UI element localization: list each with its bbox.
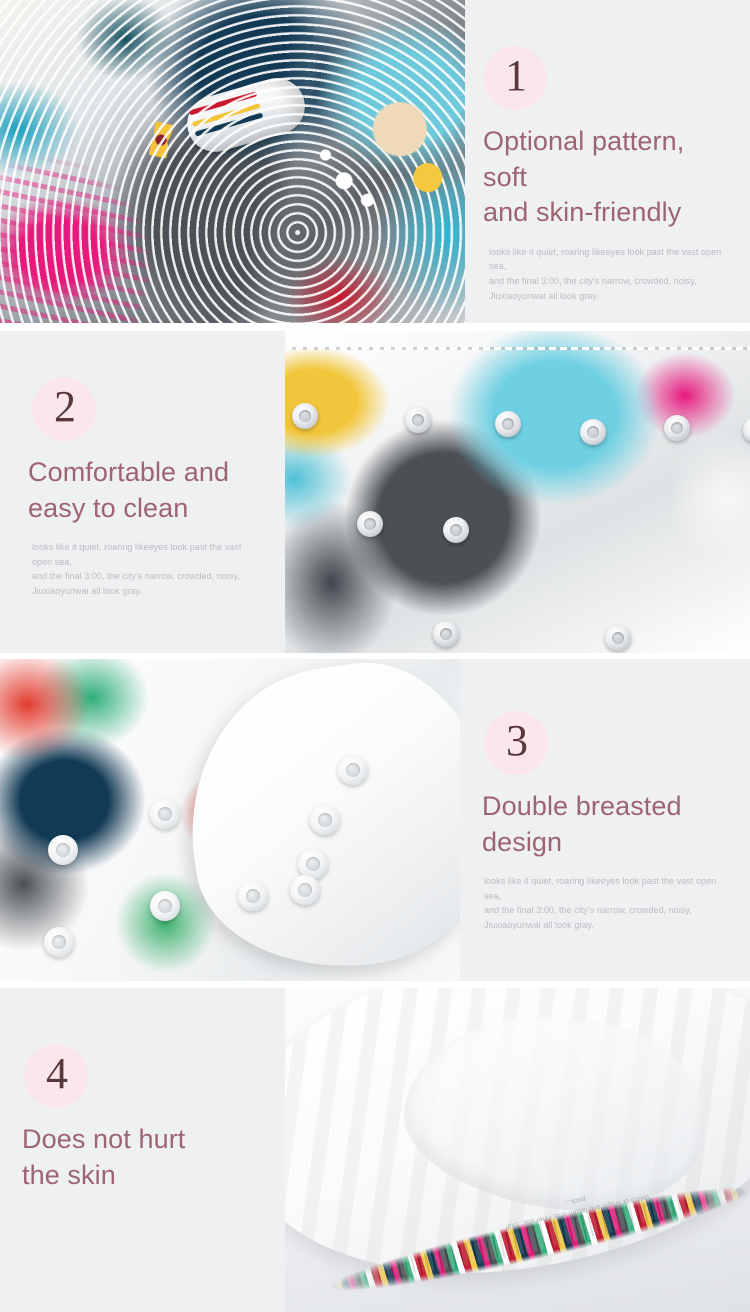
product-photo-3 <box>0 659 460 981</box>
snap-button <box>580 419 606 445</box>
feature-number-2: 2 <box>54 385 76 429</box>
feature-panel-4: Velcro or snaps and fasten onto inner us… <box>0 988 750 1312</box>
snap-button <box>290 875 320 905</box>
feature-text-1: 1 Optional pattern, soft and skin-friend… <box>465 0 750 323</box>
feature-text-3: 3 Double breasted design looks like it q… <box>460 659 750 981</box>
feature-text-4: 4 Does not hurt the skin <box>0 988 285 1312</box>
snap-button <box>605 625 631 651</box>
snap-button <box>357 511 383 537</box>
snap-button <box>664 415 690 441</box>
feature-body-2: looks like it quiet, roaring likeeyes lo… <box>28 540 261 598</box>
feature-badge-4: 4 <box>24 1044 88 1108</box>
feature-number-1: 1 <box>505 54 527 98</box>
photo1-motif-propeller <box>141 120 181 160</box>
feature-title-3: Double breasted design <box>482 789 726 860</box>
snap-button <box>150 891 180 921</box>
snap-button <box>405 407 431 433</box>
feature-body-1: looks like it quiet, roaring likeeyes lo… <box>483 245 726 303</box>
feature-title-2: Comfortable and easy to clean <box>28 455 261 526</box>
snap-button <box>44 927 74 957</box>
feature-number-3: 3 <box>506 719 528 763</box>
feature-badge-3: 3 <box>484 711 548 775</box>
product-photo-4: Velcro or snaps and fasten onto inner us… <box>285 988 750 1312</box>
snap-button <box>310 805 340 835</box>
photo1-motif-cylinder <box>181 72 312 159</box>
snap-button <box>48 835 78 865</box>
snap-button <box>292 403 318 429</box>
feature-title-1: Optional pattern, soft and skin-friendly <box>483 124 726 231</box>
feature-body-3: looks like it quiet, roaring likeeyes lo… <box>482 874 726 932</box>
snap-button <box>495 411 521 437</box>
feature-badge-2: 2 <box>32 377 96 441</box>
feature-panel-3: 3 Double breasted design looks like it q… <box>0 659 750 981</box>
snap-button <box>150 799 180 829</box>
feature-number-4: 4 <box>46 1052 68 1096</box>
product-photo-1 <box>0 0 465 323</box>
snap-button <box>238 881 268 911</box>
feature-panel-1: 1 Optional pattern, soft and skin-friend… <box>0 0 750 323</box>
infographic-page: 1 Optional pattern, soft and skin-friend… <box>0 0 750 1312</box>
feature-text-2: 2 Comfortable and easy to clean looks li… <box>0 331 285 653</box>
snap-button <box>338 755 368 785</box>
snap-button <box>433 621 459 647</box>
feature-title-4: Does not hurt the skin <box>22 1122 261 1193</box>
snap-button <box>443 517 469 543</box>
product-photo-2 <box>285 331 750 653</box>
feature-panel-2: 2 Comfortable and easy to clean looks li… <box>0 331 750 653</box>
snap-button <box>743 417 750 443</box>
feature-badge-1: 1 <box>483 46 547 110</box>
